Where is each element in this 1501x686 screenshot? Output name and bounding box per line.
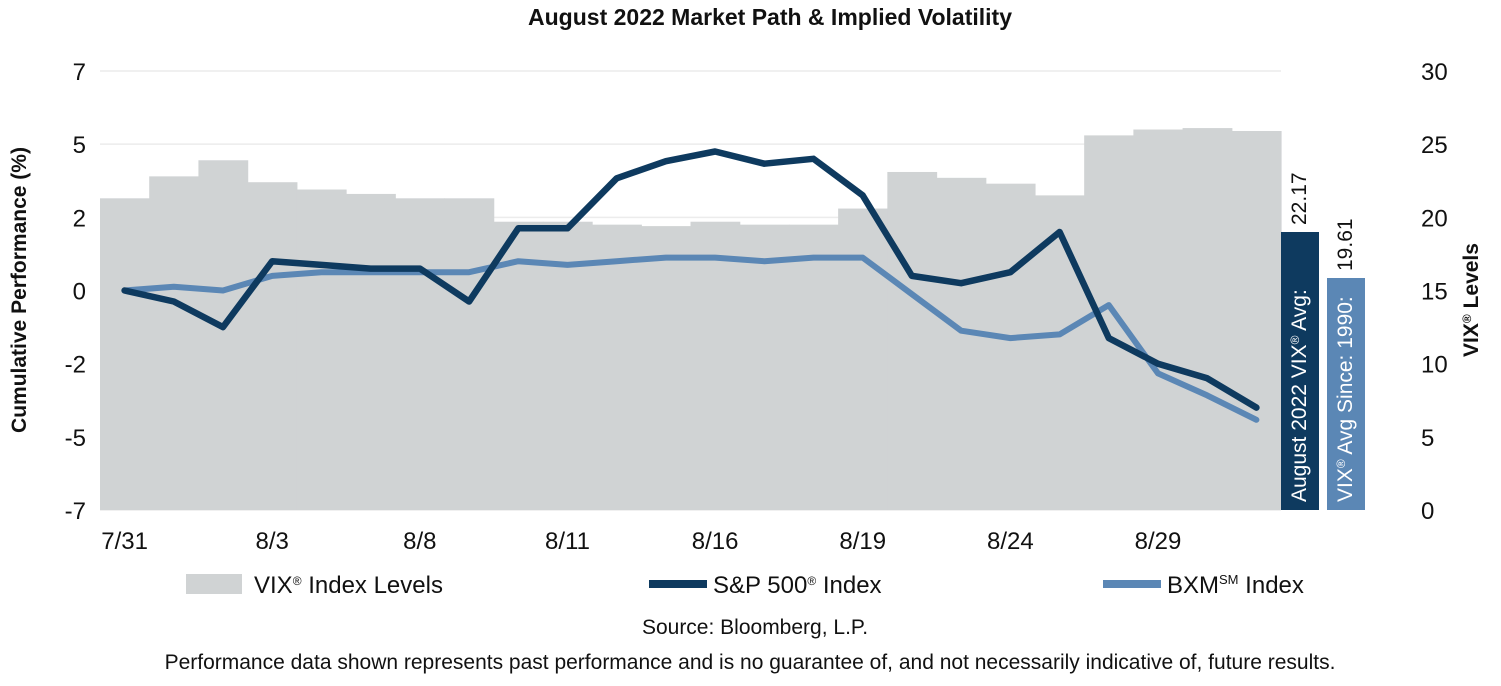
right-axis-tick-label: 10 — [1421, 352, 1448, 379]
x-axis-tick-label: 8/11 — [545, 528, 590, 555]
vix-bar — [1183, 128, 1233, 510]
vix-area-series — [100, 128, 1282, 510]
right-axis-title-text: VIX — [1460, 323, 1483, 357]
vix-bar — [789, 225, 839, 510]
vix-bar — [149, 176, 199, 510]
left-axis-tick-label: -5 — [65, 425, 86, 452]
left-axis-tick-label: 5 — [73, 132, 86, 159]
legend-swatch-vix — [186, 574, 242, 594]
source-text: Source: Bloomberg, L.P. — [642, 616, 868, 639]
x-axis-tick-label: 8/3 — [256, 528, 289, 555]
vix-bar — [100, 198, 150, 510]
vix-bar — [1133, 130, 1183, 510]
footnote-text: Performance data shown represents past p… — [165, 651, 1336, 674]
vix-bar — [838, 209, 888, 510]
annotation-value-since-1990: 19.61 — [1334, 218, 1357, 271]
left-axis-tick-label: -2 — [65, 352, 86, 379]
left-axis-title: Cumulative Performance (%) — [8, 147, 31, 433]
vix-bar — [641, 226, 691, 510]
left-axis-tick-label: -7 — [65, 498, 86, 525]
legend-label-sp500: S&P 500® Index — [713, 572, 882, 599]
vix-bar — [740, 225, 790, 510]
vix-bar — [297, 190, 347, 510]
vix-bar — [346, 194, 396, 510]
left-axis-tick-label: 7 — [73, 59, 86, 86]
chart-container: August 2022 Market Path & Implied Volati… — [0, 0, 1501, 686]
right-axis-tick-label: 25 — [1421, 132, 1448, 159]
right-axis-tick-label: 30 — [1421, 59, 1448, 86]
vix-bar — [1232, 131, 1282, 510]
right-axis-title: VIX® Levels — [1460, 243, 1483, 357]
vix-bar — [592, 225, 642, 510]
right-axis-tick-label: 15 — [1421, 279, 1448, 306]
annotation-label-august-avg: August 2022 VIX® Avg: — [1288, 289, 1311, 502]
annotation-value-august-avg: 22.17 — [1288, 172, 1311, 225]
vix-bar — [1084, 135, 1134, 510]
vix-bar — [395, 198, 445, 510]
market-path-chart: August 2022 Market Path & Implied Volati… — [0, 0, 1501, 686]
x-axis-ticks: 7/318/38/88/118/168/198/248/29 — [101, 528, 1181, 555]
annotation-vix-avg-since-1990: VIX® Avg Since: 1990: 19.61 — [1327, 218, 1365, 510]
x-axis-tick-label: 8/24 — [987, 528, 1034, 555]
x-axis-tick-label: 8/16 — [692, 528, 739, 555]
annotation-label-since-1990: VIX® Avg Since: 1990: — [1334, 296, 1357, 502]
chart-title: August 2022 Market Path & Implied Volati… — [528, 4, 1012, 30]
x-axis-tick-label: 8/29 — [1135, 528, 1182, 555]
annotation-august-2022-vix-avg: August 2022 VIX® Avg: 22.17 — [1281, 172, 1319, 510]
legend-label-vix: VIX® Index Levels — [254, 572, 443, 599]
right-axis-tick-label: 5 — [1421, 425, 1434, 452]
left-axis-ticks: 7520-2-5-7 — [65, 59, 86, 525]
vix-bar — [937, 178, 987, 510]
right-axis-tick-label: 0 — [1421, 498, 1434, 525]
vix-bar — [198, 160, 248, 510]
left-axis-tick-label: 0 — [73, 279, 86, 306]
vix-bar — [986, 184, 1036, 510]
vix-bar — [444, 198, 494, 510]
vix-bar — [691, 222, 741, 510]
vix-bar — [248, 182, 298, 510]
x-axis-tick-label: 8/19 — [839, 528, 886, 555]
left-axis-tick-label: 2 — [73, 205, 86, 232]
legend-label-bxm: BXMSM Index — [1167, 572, 1304, 599]
x-axis-tick-label: 8/8 — [403, 528, 436, 555]
right-axis-tick-label: 20 — [1421, 205, 1448, 232]
vix-bar — [887, 172, 937, 510]
right-axis-ticks: 302520151050 — [1421, 59, 1448, 525]
x-axis-tick-label: 7/31 — [101, 528, 148, 555]
legend: VIX® Index Levels S&P 500® Index BXMSM I… — [186, 572, 1304, 599]
